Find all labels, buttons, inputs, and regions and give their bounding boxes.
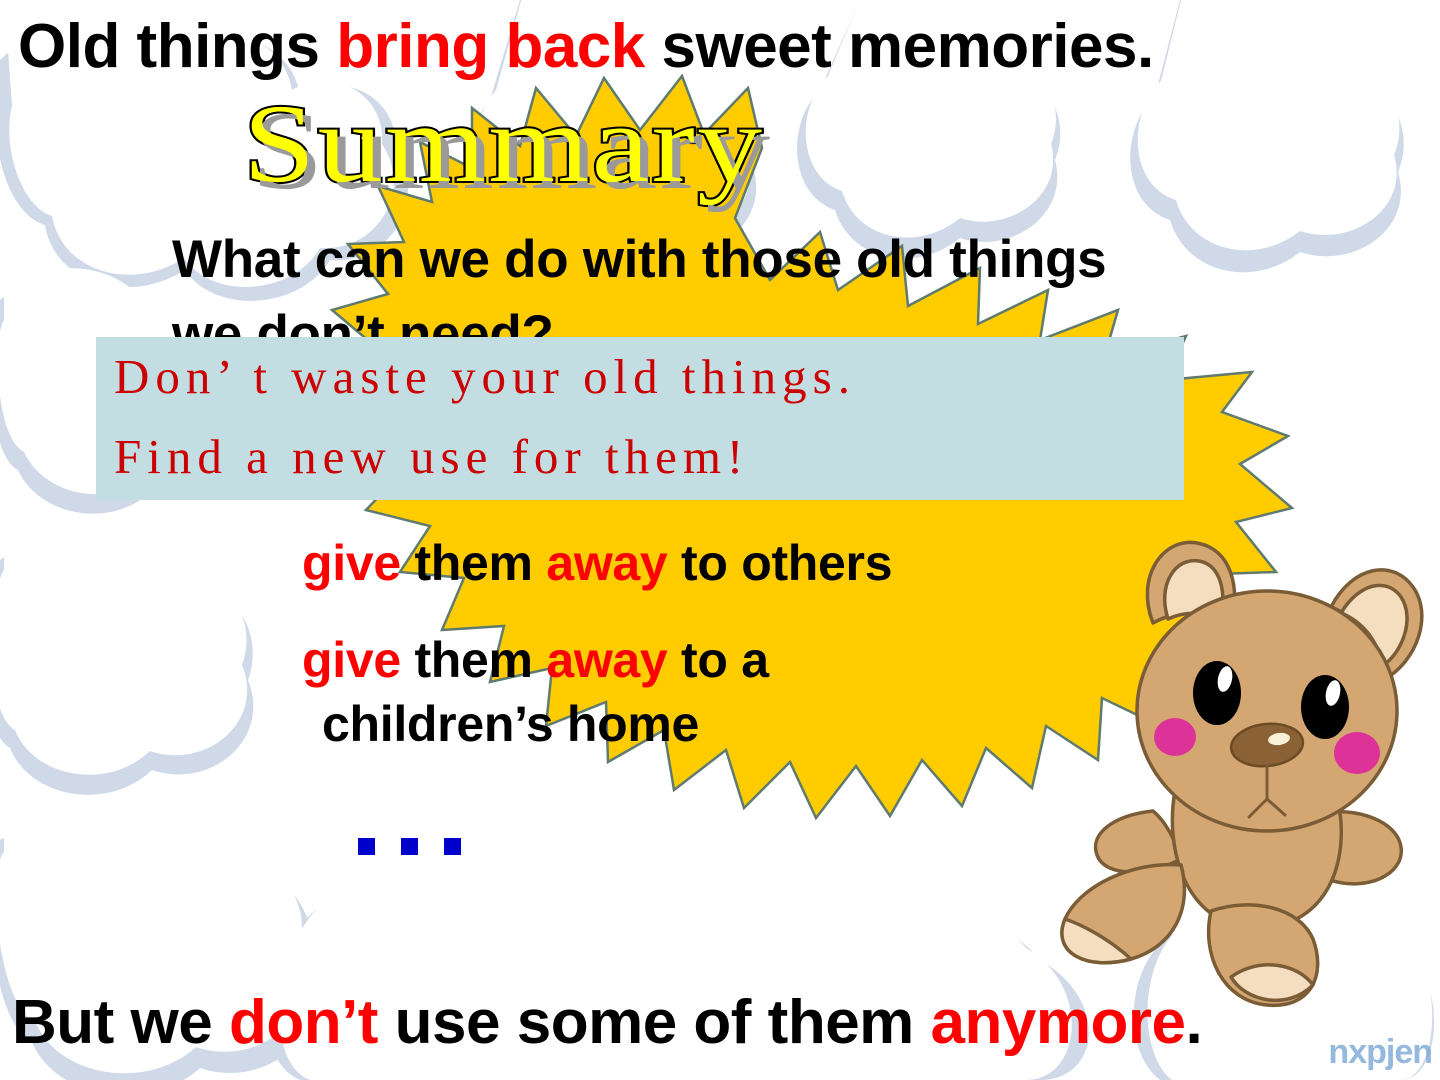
list-item: give them away to a children’s home bbox=[302, 628, 922, 756]
slide-canvas: Old things bring back sweet memories. Su… bbox=[0, 0, 1440, 1080]
headline-bottom-seg-3: anymore bbox=[931, 988, 1186, 1057]
bear-cheek-right bbox=[1334, 732, 1380, 774]
bear-cheek-left bbox=[1154, 718, 1196, 756]
bullet-2-seg-0: give bbox=[302, 632, 401, 688]
ellipsis-dot bbox=[444, 838, 461, 855]
headline-bottom: But we don’t use some of them anymore. bbox=[12, 988, 1202, 1058]
headline-bottom-seg-0: But we bbox=[12, 988, 229, 1057]
headline-top: Old things bring back sweet memories. bbox=[18, 12, 1154, 82]
bullet-2-seg-2: away bbox=[546, 632, 667, 688]
ellipsis-dot bbox=[401, 838, 418, 855]
bullet-1-seg-1: them bbox=[401, 535, 546, 591]
headline-top-seg-2: sweet memories. bbox=[645, 12, 1154, 81]
bullet-2-seg-3: to a bbox=[667, 632, 768, 688]
bullet-1-seg-0: give bbox=[302, 535, 401, 591]
bear-eye-left bbox=[1193, 661, 1241, 725]
headline-top-seg-1: bring back bbox=[336, 12, 645, 81]
bullet-2-line-2: children’s home bbox=[302, 692, 922, 756]
page-title: Summary bbox=[243, 88, 764, 200]
ellipsis-dot bbox=[358, 838, 375, 855]
bullet-1-seg-2: away bbox=[546, 535, 667, 591]
callout-line-1: Don’ t waste your old things. bbox=[96, 337, 1184, 417]
ellipsis-marker bbox=[358, 838, 461, 855]
headline-bottom-seg-1: don’t bbox=[229, 988, 378, 1057]
teddy-bear bbox=[1035, 515, 1440, 1015]
watermark: nxpjen bbox=[1328, 1033, 1432, 1072]
list-item: give them away to others bbox=[302, 531, 892, 595]
callout-box: Don’ t waste your old things. Find a new… bbox=[96, 337, 1184, 500]
headline-bottom-seg-4: . bbox=[1185, 988, 1202, 1057]
bear-eye-right bbox=[1301, 675, 1349, 739]
bullet-1-seg-3: to others bbox=[667, 535, 892, 591]
callout-line-2: Find a new use for them! bbox=[96, 417, 1184, 497]
headline-bottom-seg-2: use some of them bbox=[378, 988, 931, 1057]
headline-top-seg-0: Old things bbox=[18, 12, 336, 81]
bullet-2-seg-1: them bbox=[401, 632, 546, 688]
